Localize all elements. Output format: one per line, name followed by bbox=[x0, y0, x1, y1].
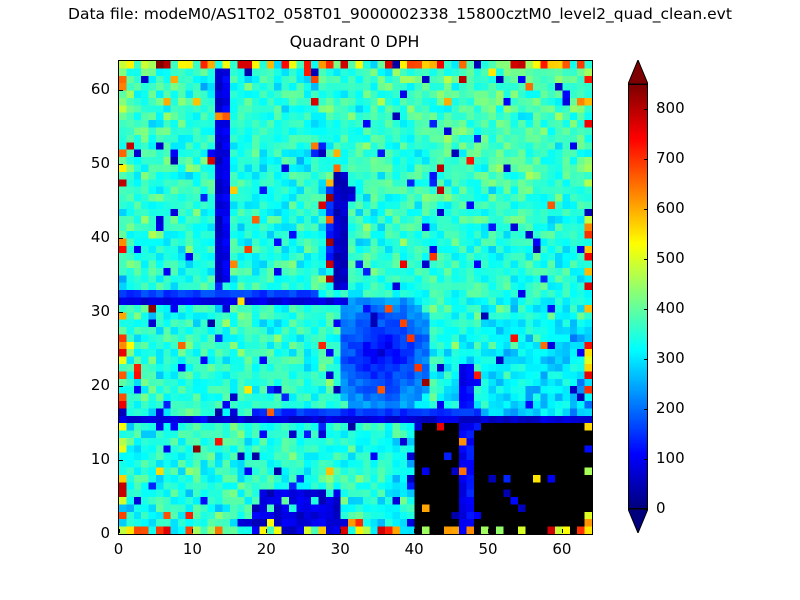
matplotlib-figure: Data file: modeM0/AS1T02_058T01_90000023… bbox=[0, 0, 800, 600]
colorbar-extend-arrow-bottom bbox=[628, 509, 648, 533]
x-tick-label: 30 bbox=[310, 540, 370, 558]
x-tick-mark bbox=[414, 529, 415, 533]
y-tick-label: 0 bbox=[50, 524, 110, 542]
colorbar-tick-label: 200 bbox=[656, 399, 685, 417]
y-tick-mark bbox=[119, 312, 123, 313]
colorbar: 0100200300400500600700800 bbox=[628, 60, 650, 533]
heatmap-image bbox=[119, 61, 592, 534]
y-tick-label: 10 bbox=[50, 450, 110, 468]
x-tick-label: 60 bbox=[532, 540, 592, 558]
x-tick-label: 0 bbox=[89, 540, 149, 558]
colorbar-extend-arrow-top bbox=[628, 60, 648, 84]
y-tick-label: 60 bbox=[50, 80, 110, 98]
colorbar-tick-label: 100 bbox=[656, 449, 685, 467]
colorbar-gradient bbox=[629, 85, 647, 508]
colorbar-tick-mark bbox=[644, 509, 648, 510]
colorbar-tick-mark bbox=[644, 359, 648, 360]
x-tick-label: 40 bbox=[384, 540, 444, 558]
colorbar-tick-label: 400 bbox=[656, 299, 685, 317]
y-tick-mark bbox=[119, 90, 123, 91]
y-tick-mark bbox=[119, 238, 123, 239]
axes-title: Quadrant 0 DPH bbox=[118, 32, 591, 51]
colorbar-tick-mark bbox=[644, 459, 648, 460]
y-tick-mark bbox=[119, 164, 123, 165]
y-tick-label: 50 bbox=[50, 154, 110, 172]
x-tick-mark bbox=[266, 529, 267, 533]
colorbar-tick-label: 500 bbox=[656, 249, 685, 267]
x-tick-label: 50 bbox=[458, 540, 518, 558]
colorbar-tick-mark bbox=[644, 209, 648, 210]
x-tick-mark bbox=[119, 529, 120, 533]
colorbar-tick-mark bbox=[644, 159, 648, 160]
y-tick-label: 40 bbox=[50, 228, 110, 246]
colorbar-tick-label: 300 bbox=[656, 349, 685, 367]
colorbar-tick-mark bbox=[644, 309, 648, 310]
x-tick-mark bbox=[488, 529, 489, 533]
y-tick-label: 30 bbox=[50, 302, 110, 320]
x-tick-label: 20 bbox=[236, 540, 296, 558]
colorbar-tick-label: 600 bbox=[656, 199, 685, 217]
x-tick-label: 10 bbox=[162, 540, 222, 558]
x-tick-mark bbox=[192, 529, 193, 533]
colorbar-tick-label: 800 bbox=[656, 99, 685, 117]
colorbar-tick-mark bbox=[644, 259, 648, 260]
x-tick-mark bbox=[340, 529, 341, 533]
colorbar-tick-mark bbox=[644, 109, 648, 110]
y-tick-mark bbox=[119, 460, 123, 461]
colorbar-gradient-body bbox=[628, 84, 648, 509]
y-tick-label: 20 bbox=[50, 376, 110, 394]
y-tick-mark bbox=[119, 386, 123, 387]
colorbar-tick-label: 700 bbox=[656, 149, 685, 167]
y-tick-mark bbox=[119, 534, 123, 535]
figure-suptitle: Data file: modeM0/AS1T02_058T01_90000023… bbox=[0, 5, 800, 23]
heatmap-axes bbox=[118, 60, 593, 535]
colorbar-tick-mark bbox=[644, 409, 648, 410]
colorbar-tick-label: 0 bbox=[656, 499, 666, 517]
x-tick-mark bbox=[562, 529, 563, 533]
